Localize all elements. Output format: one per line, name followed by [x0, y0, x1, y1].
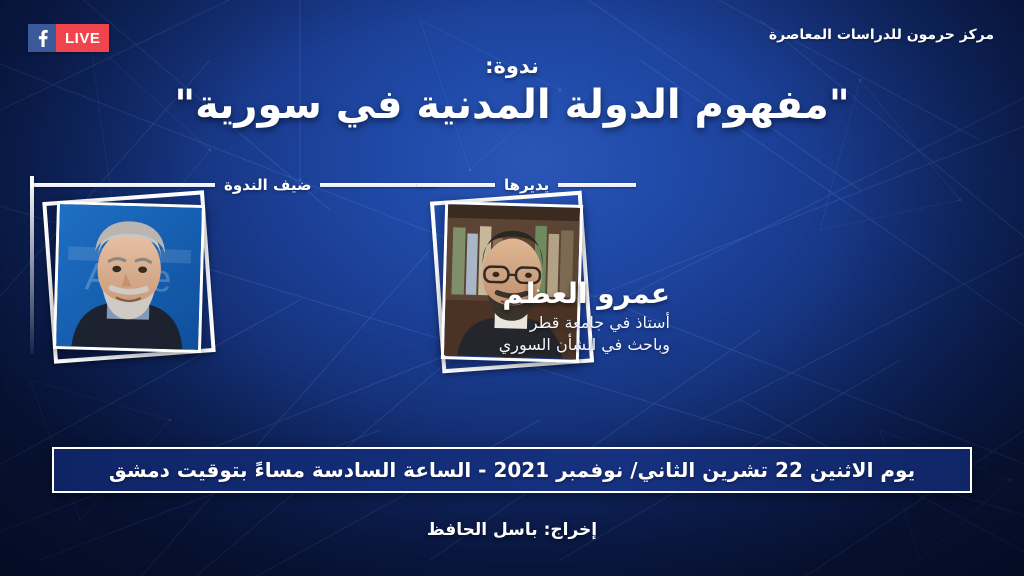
- bracket-label-guest-left: ضيف الندوة: [215, 176, 320, 194]
- title-kicker: ندوة:: [0, 54, 1024, 78]
- page-title: "مفهوم الدولة المدنية في سورية": [0, 82, 1024, 128]
- date-text: يوم الاثنين 22 تشرين الثاني/ نوفمبر 2021…: [109, 458, 915, 482]
- director-credit: إخراج: باسل الحافظ: [0, 520, 1024, 540]
- bracket-rule-right: [558, 183, 636, 187]
- photo-frame: A e: [53, 201, 205, 353]
- facebook-f-icon: [28, 24, 56, 52]
- promo-card: LIVE مركز حرمون للدراسات المعاصرة ندوة: …: [0, 0, 1024, 576]
- live-label: LIVE: [56, 24, 109, 52]
- bracket-guest-left: ضيف الندوة: [30, 172, 438, 198]
- photo-guest-left: A e: [55, 203, 203, 351]
- bracket-rule-outer: [30, 183, 215, 187]
- facebook-live-badge[interactable]: LIVE: [28, 24, 109, 52]
- organization-name: مركز حرمون للدراسات المعاصرة: [769, 27, 994, 43]
- bracket-rule-left: [417, 183, 495, 187]
- date-banner: يوم الاثنين 22 تشرين الثاني/ نوفمبر 2021…: [52, 447, 972, 493]
- bracket-label-moderator: يديرها: [495, 176, 558, 194]
- bracket-stem-guest-left: [30, 176, 34, 354]
